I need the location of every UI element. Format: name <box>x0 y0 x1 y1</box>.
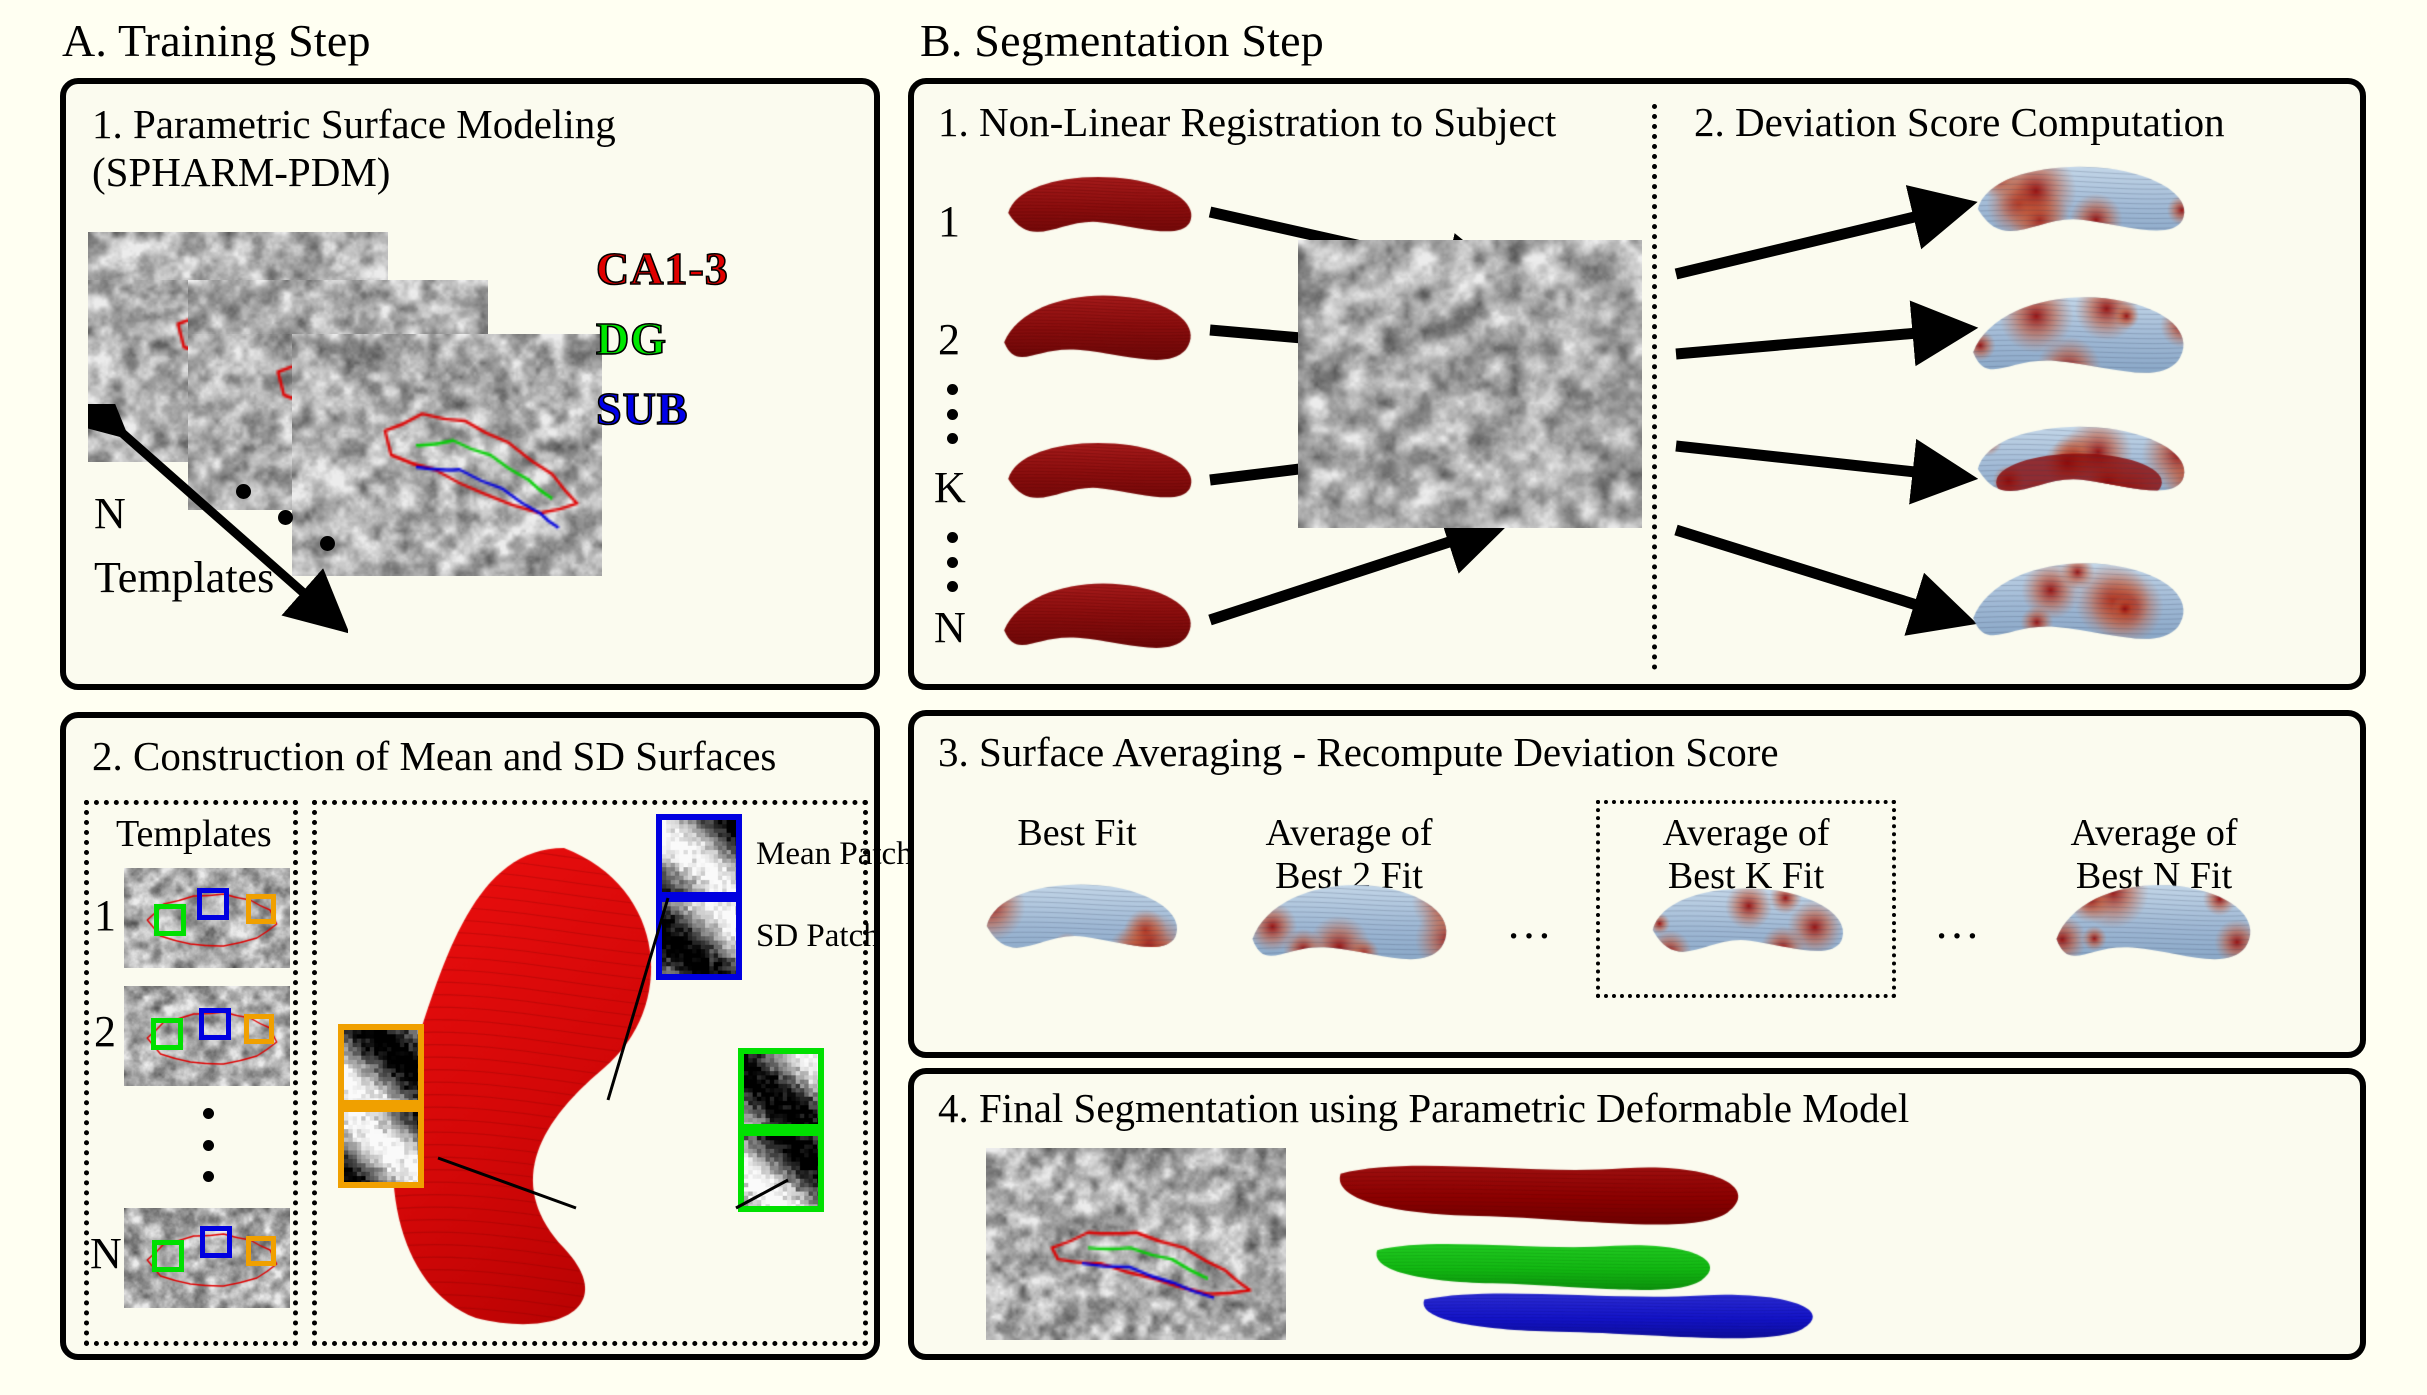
templates-vertical-ellipsis <box>202 1108 214 1182</box>
b1-row-label-n: N <box>934 602 966 653</box>
roi-box-orange-2 <box>244 1014 274 1044</box>
roi-box-orange-n <box>246 1236 276 1266</box>
panel-a2-title: 2. Construction of Mean and SD Surfaces <box>92 734 776 780</box>
roi-box-green-n <box>152 1240 184 1272</box>
roi-box-blue-n <box>200 1226 232 1258</box>
panel-b4: 4. Final Segmentation using Parametric D… <box>908 1068 2366 1360</box>
b3-surface-avg-best-k <box>1640 876 1852 984</box>
panel-b2-title: 2. Deviation Score Computation <box>1694 100 2225 146</box>
template-row-label-n: N <box>90 1228 122 1279</box>
panel-a1-title-line1: 1. Parametric Surface Modeling <box>92 102 616 148</box>
panel-a1: 1. Parametric Surface Modeling (SPHARM-P… <box>60 78 880 690</box>
legend-ca13: CA1-3 <box>596 242 729 295</box>
section-title-a: A. Training Step <box>62 14 371 67</box>
b3-surface-avg-best-n <box>2048 872 2260 980</box>
b3-surface-best-fit <box>974 872 1186 980</box>
legend-sub: SUB <box>596 382 688 435</box>
subject-mri-image <box>1298 240 1642 528</box>
n-templates-label-line1: N <box>94 488 126 539</box>
roi-box-green-2 <box>151 1018 183 1050</box>
panel-b1-b2: 1. Non-Linear Registration to Subject 2.… <box>908 78 2366 690</box>
b3-surface-avg-best-2 <box>1244 872 1456 980</box>
deviation-surface-k <box>1964 414 2194 524</box>
panel-a1-title-line2: (SPHARM-PDM) <box>92 150 390 196</box>
templates-header: Templates <box>116 812 272 856</box>
panel-b1-title: 1. Non-Linear Registration to Subject <box>938 100 1556 146</box>
template-surface-n <box>996 572 1200 666</box>
slices-ellipsis-dots <box>236 484 366 574</box>
b1-row-label-k: K <box>934 462 966 513</box>
roi-box-blue-2 <box>199 1008 231 1040</box>
b3-ellipsis-right: … <box>1934 896 1985 949</box>
b1-row-label-1: 1 <box>938 196 960 247</box>
b3-item-4-line1: Average of <box>2070 812 2237 854</box>
b1-ellipsis-upper <box>946 384 958 444</box>
b3-ellipsis-left: … <box>1506 896 1557 949</box>
b3-item-label-1: Best Fit <box>952 812 1202 855</box>
b3-item-2-line1: Average of <box>1265 812 1432 854</box>
final-surface-ca13 <box>1332 1148 1762 1240</box>
b1-b2-divider <box>1652 104 1657 670</box>
b3-item-3-line1: Average of <box>1662 812 1829 854</box>
template-row-label-1: 1 <box>94 890 116 941</box>
section-title-b: B. Segmentation Step <box>920 14 1324 67</box>
b1-ellipsis-lower <box>946 532 958 592</box>
template-surface-1 <box>996 166 1200 260</box>
template-surface-2 <box>996 284 1200 378</box>
patch-leader-lines <box>316 808 866 1348</box>
b3-item-1-line1: Best Fit <box>1017 812 1136 854</box>
roi-box-blue-1 <box>197 888 229 920</box>
roi-box-green-1 <box>154 904 186 936</box>
panel-a2: 2. Construction of Mean and SD Surfaces … <box>60 712 880 1360</box>
deviation-surface-2 <box>1964 284 2194 394</box>
legend-dg: DG <box>596 312 667 365</box>
final-segmentation-mri <box>986 1148 1286 1340</box>
panel-b4-title: 4. Final Segmentation using Parametric D… <box>938 1086 1909 1132</box>
deviation-surface-n <box>1964 550 2194 660</box>
template-row-label-2: 2 <box>94 1006 116 1057</box>
panel-b3: 3. Surface Averaging - Recompute Deviati… <box>908 710 2366 1058</box>
panel-b3-title: 3. Surface Averaging - Recompute Deviati… <box>938 730 1779 776</box>
template-surface-k <box>996 432 1200 526</box>
final-surface-sub <box>1416 1280 1836 1350</box>
b1-row-label-2: 2 <box>938 314 960 365</box>
roi-box-orange-1 <box>246 894 276 924</box>
deviation-surface-1 <box>1964 154 2194 264</box>
